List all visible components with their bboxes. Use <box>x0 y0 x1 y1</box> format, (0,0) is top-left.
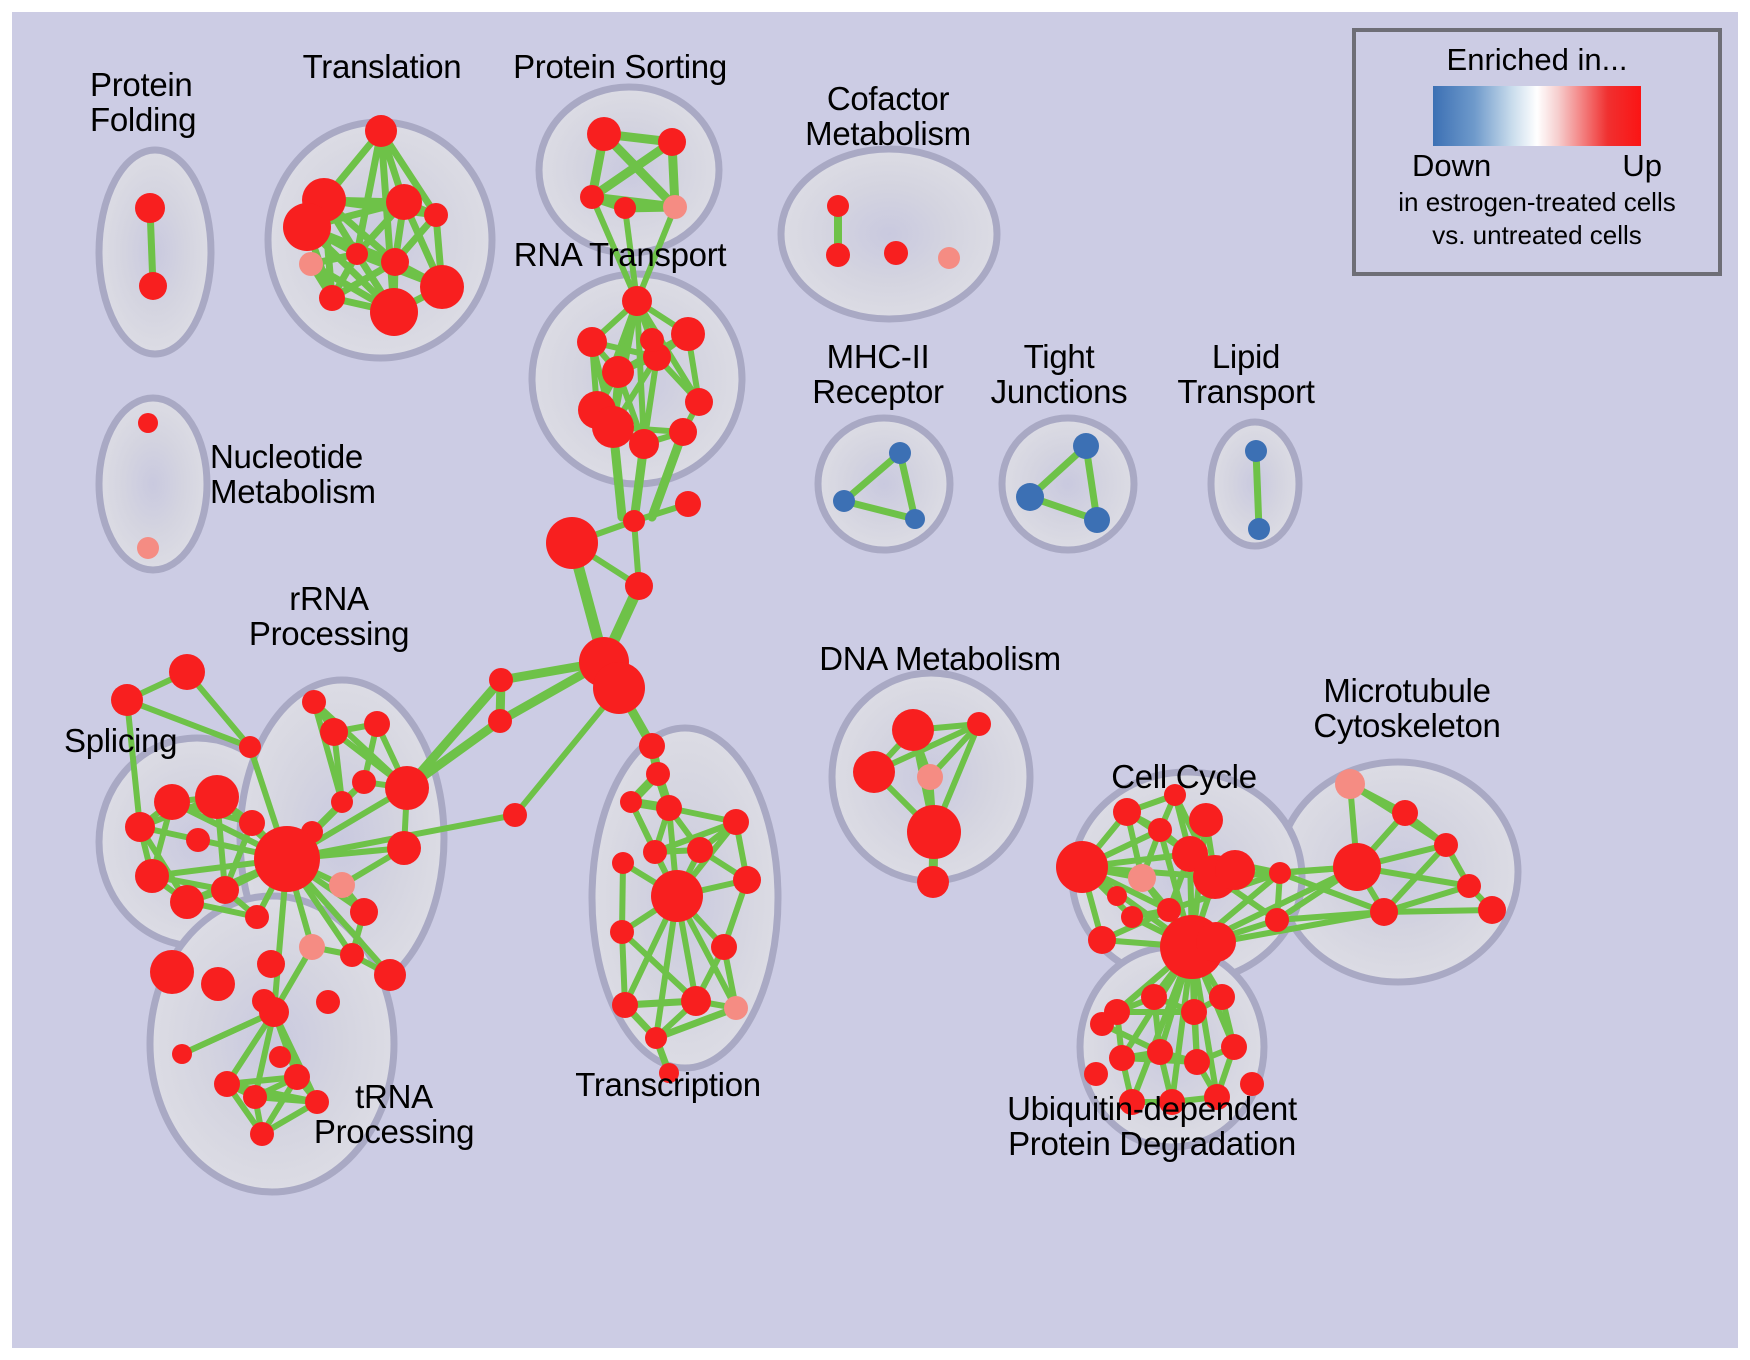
legend-high-label: Up <box>1622 148 1662 184</box>
legend-endpoints: Down Up <box>1412 148 1662 184</box>
enrichment-map-canvas: Protein Folding Translation Protein Sort… <box>12 12 1738 1348</box>
cluster-label-rna-transport: RNA Transport <box>514 238 727 273</box>
cluster-label-protein-folding: Protein Folding <box>90 68 196 138</box>
hull-mhcii <box>818 418 950 550</box>
cluster-label-lipid-transport: Lipid Transport <box>1177 340 1314 410</box>
cluster-label-cofactor-metabolism: Cofactor Metabolism <box>805 82 971 152</box>
legend-subtitle-line2: vs. untreated cells <box>1432 221 1642 250</box>
cluster-label-translation: Translation <box>303 50 462 85</box>
legend-subtitle-line1: in estrogen-treated cells <box>1398 188 1675 217</box>
cluster-label-trna-processing: tRNA Processing <box>314 1080 474 1150</box>
legend-color-gradient-bar <box>1433 86 1641 146</box>
cluster-label-ubiquitin-protein-degradation: Ubiquitin-dependent Protein Degradation <box>1007 1092 1297 1162</box>
legend-title: Enriched in... <box>1447 42 1628 78</box>
cluster-label-tight-junctions: Tight Junctions <box>991 340 1128 410</box>
cluster-label-rrna-processing: rRNA Processing <box>249 582 409 652</box>
cluster-label-protein-sorting: Protein Sorting <box>513 50 727 85</box>
cluster-label-cell-cycle: Cell Cycle <box>1111 760 1257 795</box>
cluster-label-dna-metabolism: DNA Metabolism <box>819 642 1061 677</box>
hull-tight-junctions <box>1002 418 1134 550</box>
cluster-label-transcription: Transcription <box>575 1068 761 1103</box>
cluster-label-splicing: Splicing <box>64 724 177 759</box>
legend-box: Enriched in... Down Up in estrogen-treat… <box>1352 28 1722 276</box>
cluster-label-mhc-ii-receptor: MHC-II Receptor <box>812 340 944 410</box>
hull-cofactor <box>781 149 997 319</box>
legend-low-label: Down <box>1412 148 1491 184</box>
cluster-label-nucleotide-metabolism: Nucleotide Metabolism <box>210 440 376 510</box>
cluster-label-microtubule-cytoskeleton: Microtubule Cytoskeleton <box>1313 674 1500 744</box>
